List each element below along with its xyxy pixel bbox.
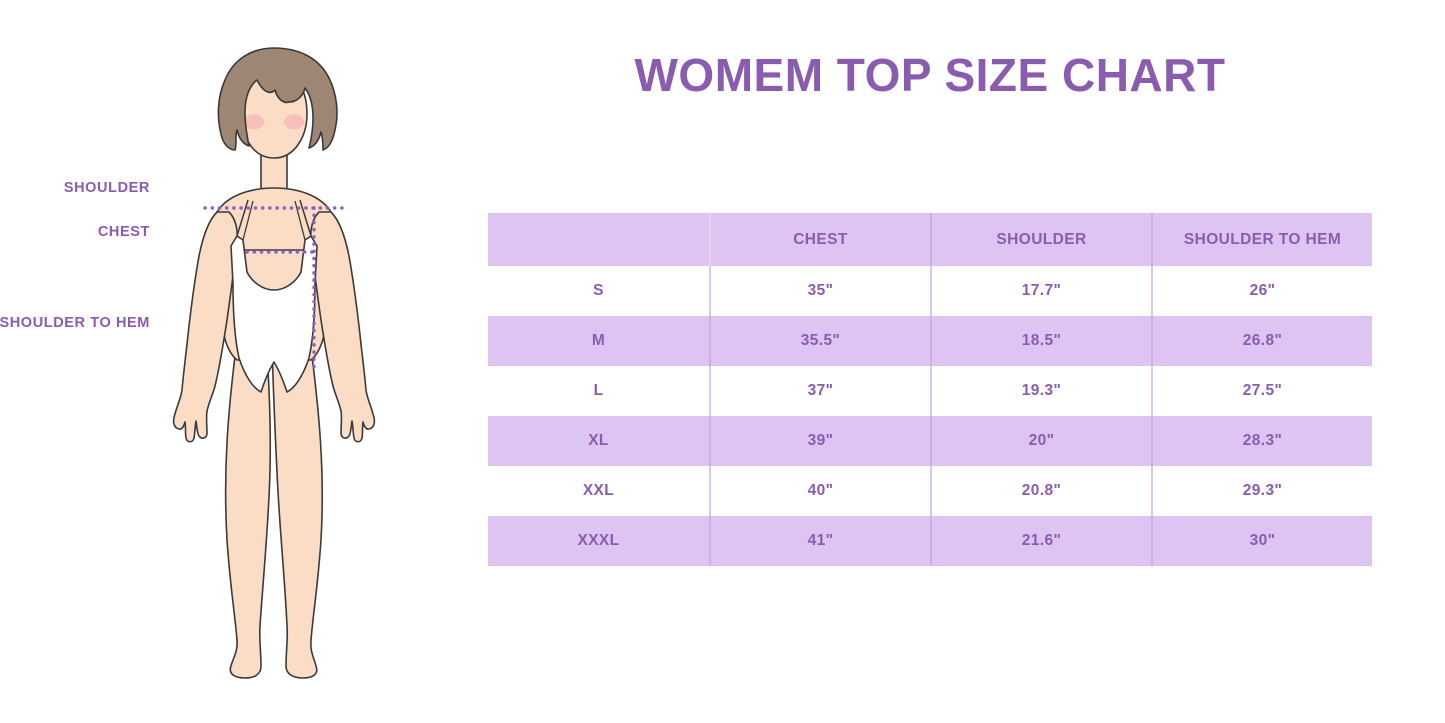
table-row: XXL 40" 20.8" 29.3"	[488, 466, 1372, 516]
cell-hem: 27.5"	[1152, 366, 1372, 416]
table-head: CHEST SHOULDER SHOULDER TO HEM	[488, 213, 1372, 266]
cell-chest: 35"	[710, 266, 931, 316]
cell-size: XXXL	[488, 516, 710, 566]
table-row: XXXL 41" 21.6" 30"	[488, 516, 1372, 566]
table-row: M 35.5" 18.5" 26.8"	[488, 316, 1372, 366]
size-chart-container: CHEST SHOULDER SHOULDER TO HEM S 35" 17.…	[488, 213, 1372, 566]
cell-hem: 28.3"	[1152, 416, 1372, 466]
cell-chest: 41"	[710, 516, 931, 566]
table-row: S 35" 17.7" 26"	[488, 266, 1372, 316]
table-body: S 35" 17.7" 26" M 35.5" 18.5" 26.8" L 37…	[488, 266, 1372, 566]
figure-panel: SHOULDER CHEST SHOULDER TO HEM	[0, 0, 470, 723]
column-header-chest: CHEST	[710, 213, 931, 266]
cell-shoulder: 17.7"	[931, 266, 1152, 316]
cell-shoulder: 18.5"	[931, 316, 1152, 366]
cell-hem: 29.3"	[1152, 466, 1372, 516]
cell-chest: 37"	[710, 366, 931, 416]
cell-chest: 39"	[710, 416, 931, 466]
column-header-hem: SHOULDER TO HEM	[1152, 213, 1372, 266]
cell-chest: 40"	[710, 466, 931, 516]
cell-size: M	[488, 316, 710, 366]
cell-shoulder: 21.6"	[931, 516, 1152, 566]
blush-right	[284, 115, 304, 130]
cell-shoulder: 20"	[931, 416, 1152, 466]
cell-chest: 35.5"	[710, 316, 931, 366]
cell-hem: 26"	[1152, 266, 1372, 316]
cell-size: XXL	[488, 466, 710, 516]
cell-size: L	[488, 366, 710, 416]
left-leg	[226, 340, 271, 678]
right-leg	[272, 340, 322, 678]
page-title: WOMEM TOP SIZE CHART	[488, 52, 1372, 98]
column-header-shoulder: SHOULDER	[931, 213, 1152, 266]
cell-size: S	[488, 266, 710, 316]
table-row: L 37" 19.3" 27.5"	[488, 366, 1372, 416]
table-row: XL 39" 20" 28.3"	[488, 416, 1372, 466]
female-body-illustration	[165, 40, 415, 680]
label-shoulder: SHOULDER	[64, 180, 150, 196]
column-header-size	[488, 213, 710, 266]
cell-shoulder: 19.3"	[931, 366, 1152, 416]
cell-shoulder: 20.8"	[931, 466, 1152, 516]
label-chest: CHEST	[98, 224, 150, 240]
cell-hem: 30"	[1152, 516, 1372, 566]
cell-hem: 26.8"	[1152, 316, 1372, 366]
cell-size: XL	[488, 416, 710, 466]
table-header-row: CHEST SHOULDER SHOULDER TO HEM	[488, 213, 1372, 266]
label-shoulder-to-hem: SHOULDER TO HEM	[0, 315, 150, 331]
blush-left	[244, 115, 264, 130]
size-chart-table: CHEST SHOULDER SHOULDER TO HEM S 35" 17.…	[488, 213, 1372, 566]
